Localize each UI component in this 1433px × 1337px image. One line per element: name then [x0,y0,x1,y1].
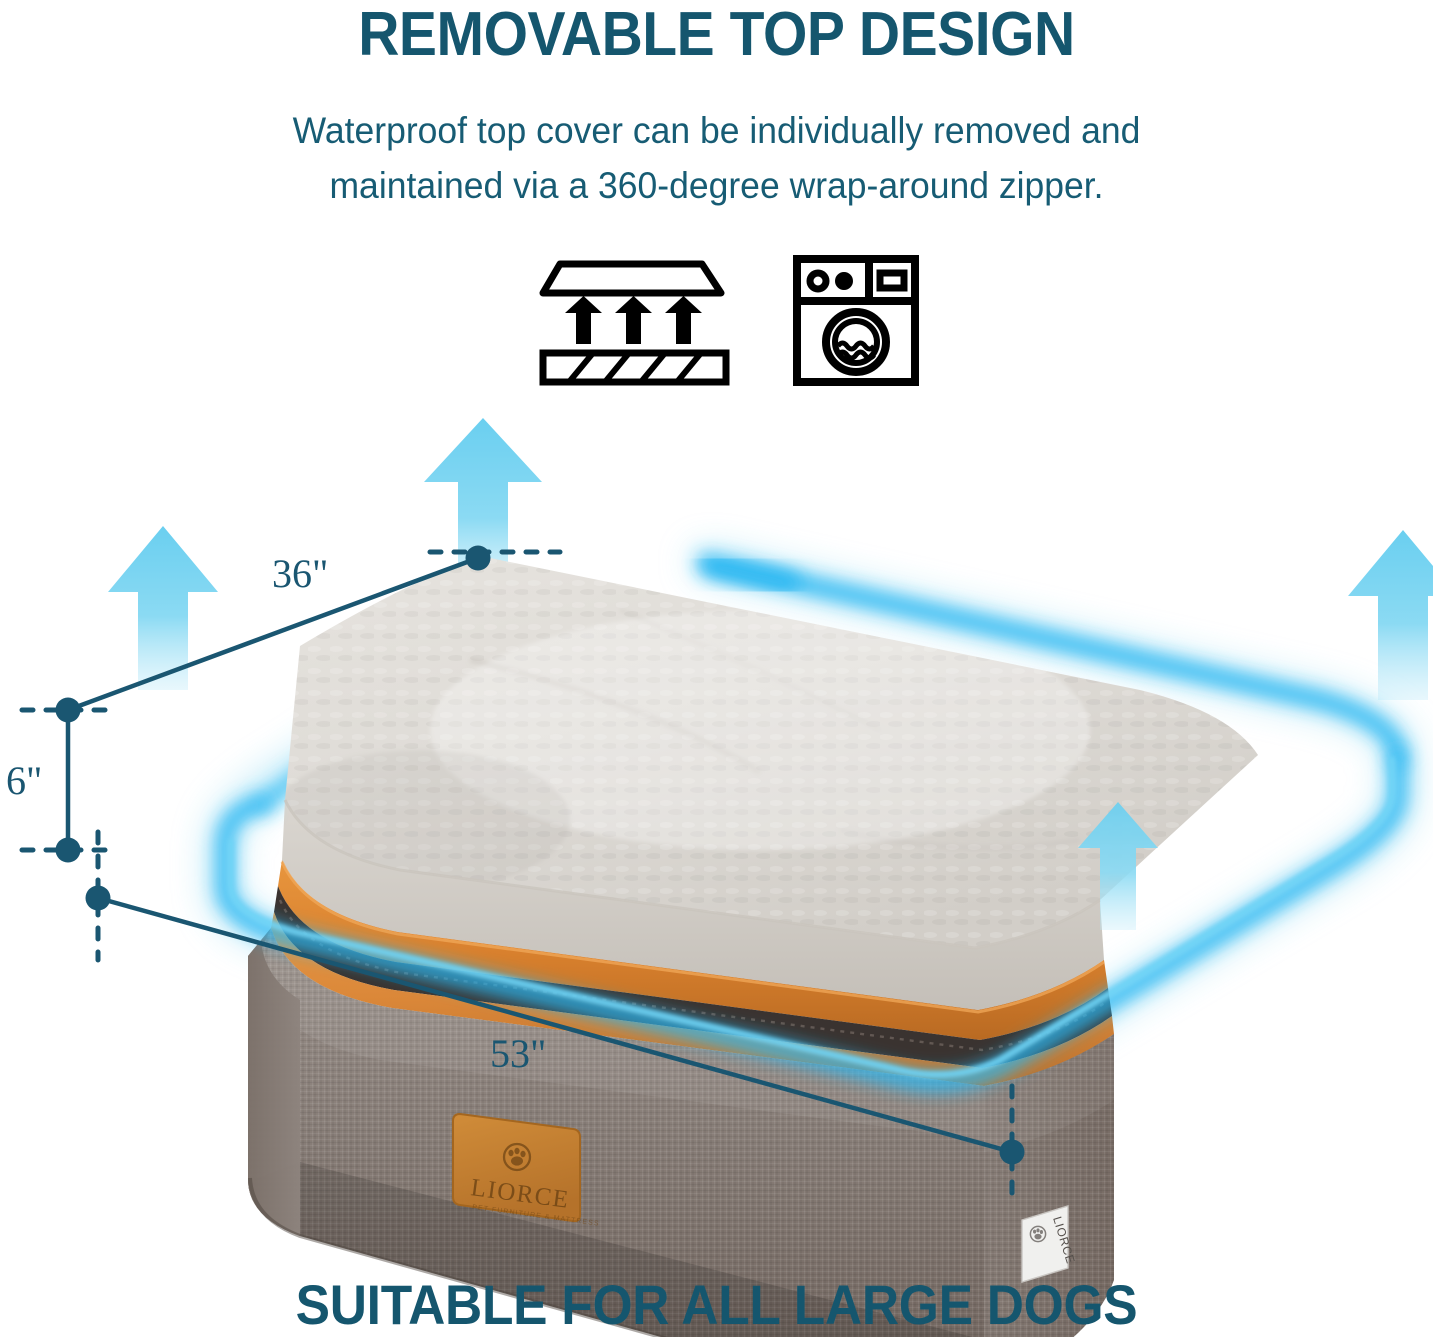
washing-machine-icon [792,254,920,387]
removable-cover-icon [538,256,748,386]
infographic-root: REMOVABLE TOP DESIGN Waterproof top cove… [0,0,1433,1331]
footer-title: SUITABLE FOR ALL LARGE DOGS [57,1272,1375,1337]
brand-tag: LIORCE PET FURNITURE & MATTRESS [453,1114,600,1228]
page-title: REMOVABLE TOP DESIGN [57,2,1375,67]
dim-node [1000,1140,1025,1165]
feature-icon-row [520,250,930,400]
dim-node [56,838,81,863]
lift-cover-arrow [108,526,218,690]
lift-cover-arrow [1348,530,1433,700]
subtitle-line-1: Waterproof top cover can be individually… [293,110,1141,151]
subtitle-line-2: maintained via a 360-degree wrap-around … [329,165,1103,206]
dimension-label-length: 53" [490,1030,546,1077]
dim-node [466,546,491,571]
dim-node [86,886,111,911]
subtitle: Waterproof top cover can be individually… [182,104,1250,214]
dimension-label-width: 36" [272,550,328,597]
product-illustration: LIORCE PET FURNITURE & MATTRESS LIORCE [0,400,1433,1260]
dim-node [56,698,81,723]
dimension-label-height: 6" [6,757,42,804]
